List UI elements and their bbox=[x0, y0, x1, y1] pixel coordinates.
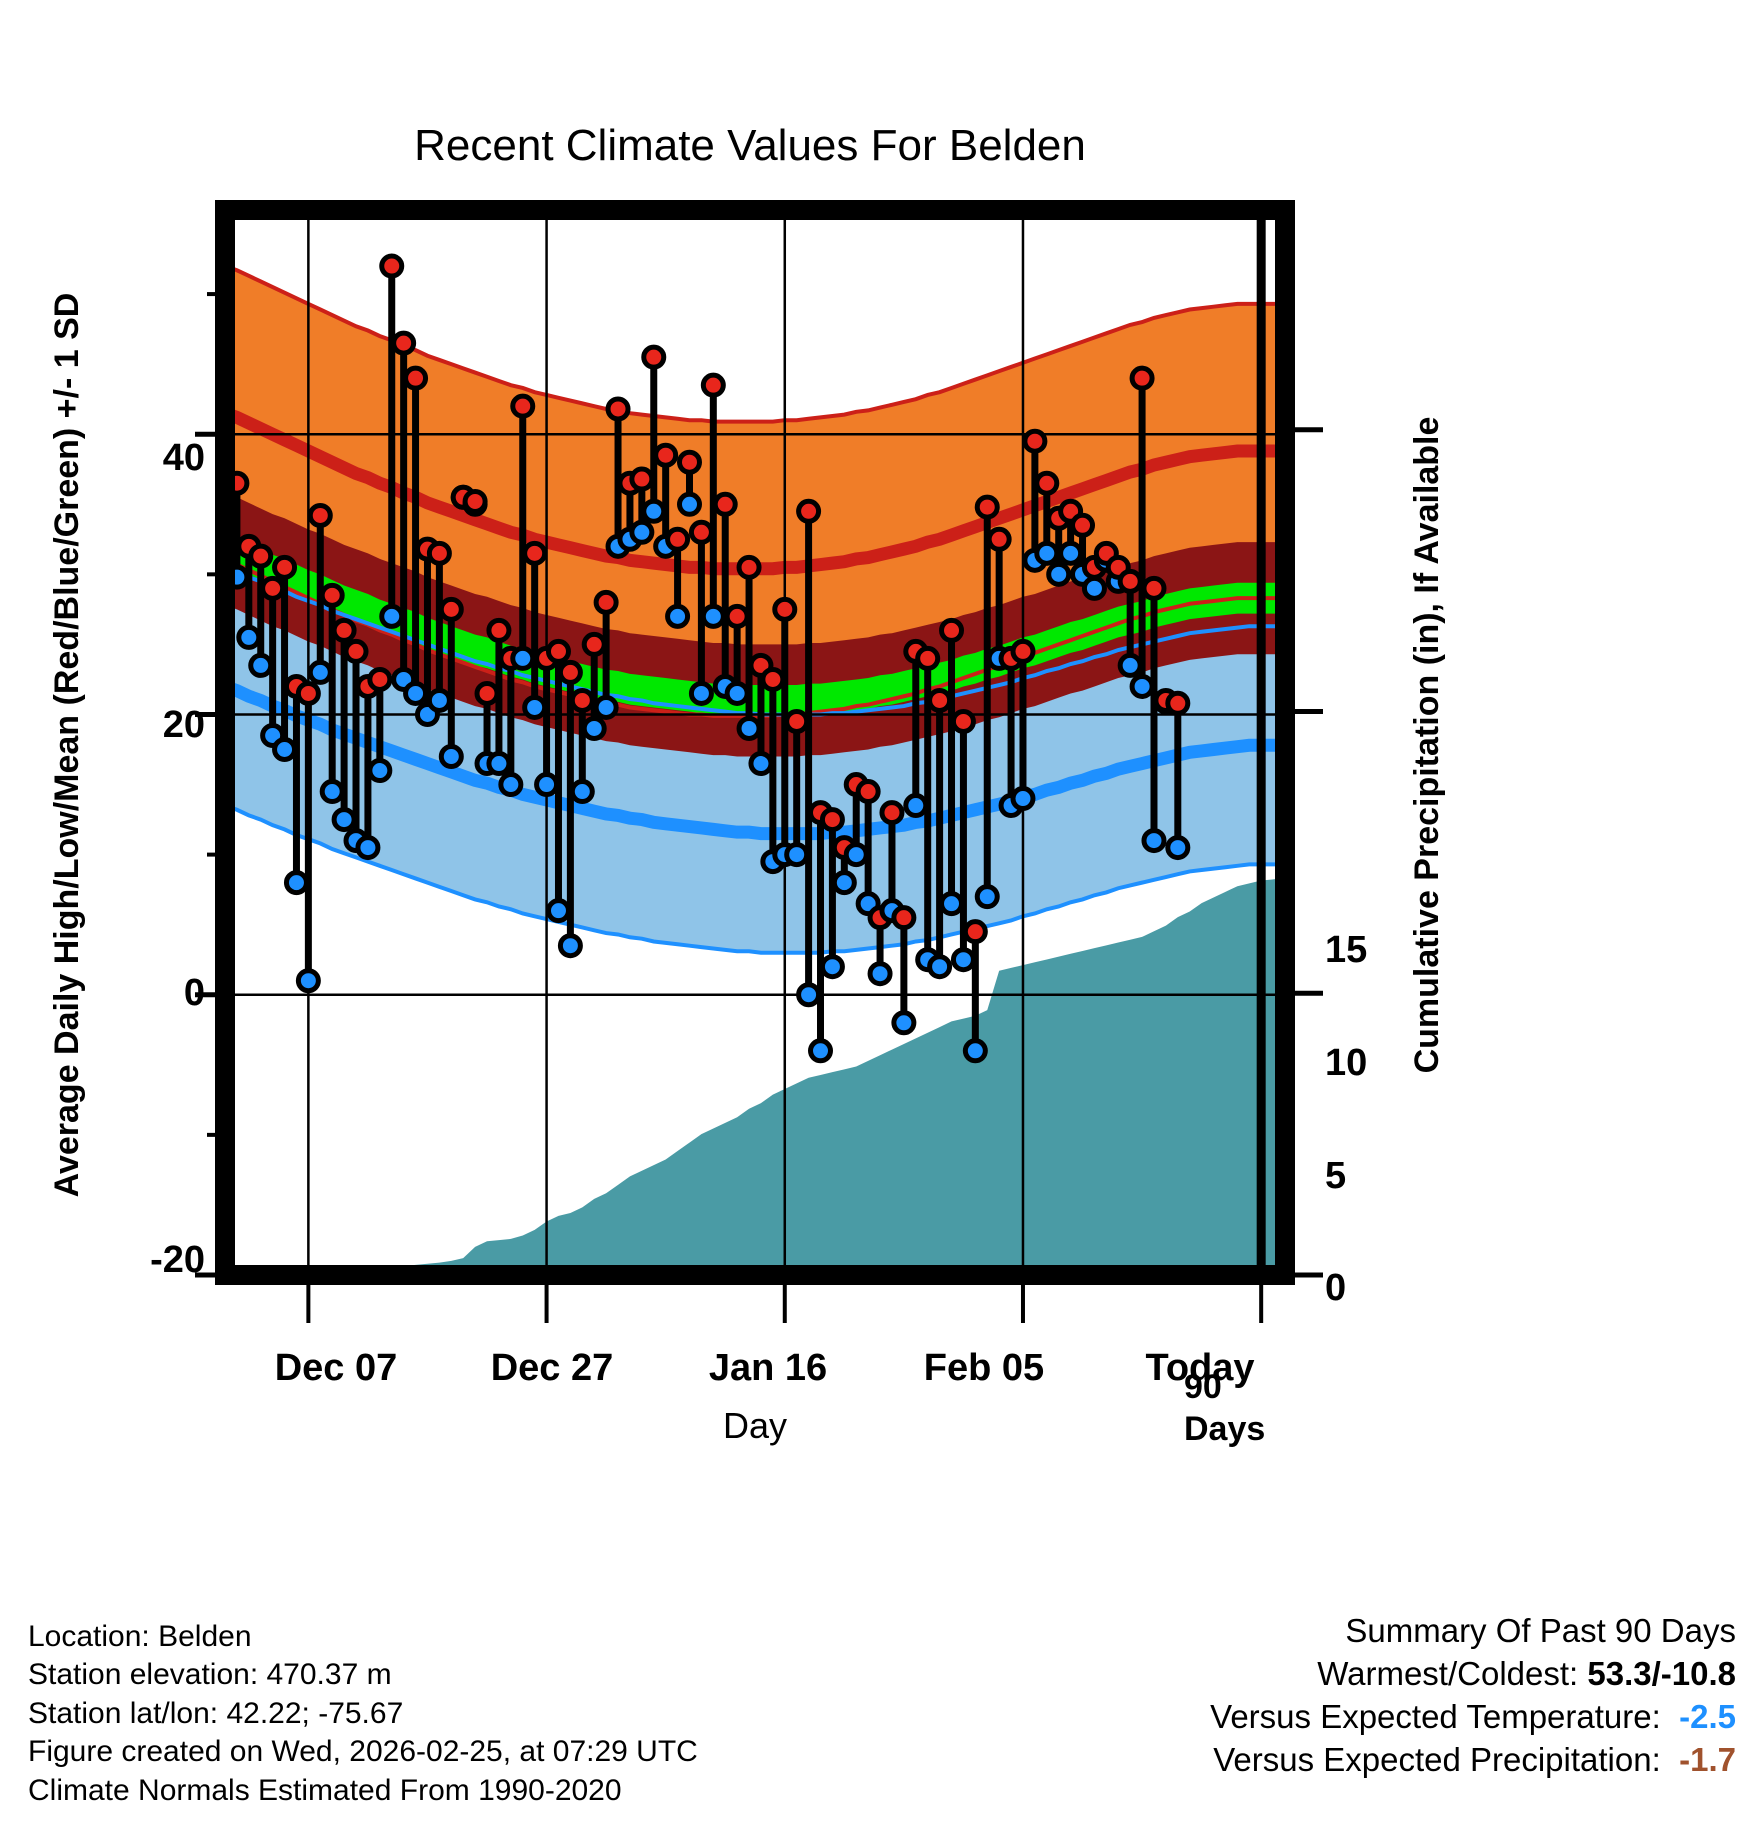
vs-temp-value: -2.5 bbox=[1679, 1698, 1736, 1735]
summary-panel: Summary Of Past 90 Days Warmest/Coldest:… bbox=[1210, 1610, 1736, 1782]
y-tick-left-1: 20 bbox=[163, 704, 205, 746]
footer-elevation: Station elevation: 470.37 m bbox=[28, 1656, 698, 1694]
summary-heading: Summary Of Past 90 Days bbox=[1210, 1610, 1736, 1653]
summary-vs-temperature: Versus Expected Temperature: -2.5 bbox=[1210, 1696, 1736, 1739]
x-tick-2: Jan 16 bbox=[709, 1347, 827, 1389]
footer-created: Figure created on Wed, 2026-02-25, at 07… bbox=[28, 1733, 698, 1771]
x-tick-0: Dec 07 bbox=[275, 1347, 398, 1389]
y-tick-right-2: 5 bbox=[1325, 1155, 1346, 1197]
footer-latlon: Station lat/lon: 42.22; -75.67 bbox=[28, 1695, 698, 1733]
vs-prcp-label: Versus Expected Precipitation: bbox=[1213, 1741, 1661, 1778]
footer-location: Location: Belden bbox=[28, 1618, 698, 1656]
y-tick-right-3: 0 bbox=[1325, 1267, 1346, 1309]
summary-vs-precipitation: Versus Expected Precipitation: -1.7 bbox=[1210, 1739, 1736, 1782]
footer-normals: Climate Normals Estimated From 1990-2020 bbox=[28, 1772, 698, 1810]
footer-left: Location: Belden Station elevation: 470.… bbox=[28, 1618, 698, 1810]
y-axis-left-title: Average Daily High/Low/Mean (Red/Blue/Gr… bbox=[48, 293, 86, 1198]
right-axis-ticks bbox=[1293, 430, 1323, 1275]
x-tick-1: Dec 27 bbox=[491, 1347, 614, 1389]
vs-prcp-value: -1.7 bbox=[1679, 1741, 1736, 1778]
annotation-days: Days bbox=[1184, 1410, 1265, 1448]
summary-warmest-coldest: Warmest/Coldest: 53.3/-10.8 bbox=[1210, 1653, 1736, 1696]
x-axis-title: Day bbox=[723, 1405, 787, 1446]
warmcold-value: 53.3/-10.8 bbox=[1587, 1655, 1736, 1692]
climate-chart-svg: Recent Climate Values For Belden 40 20 0… bbox=[0, 0, 1748, 1828]
y-tick-right-0: 15 bbox=[1325, 929, 1367, 971]
x-axis-ticks bbox=[308, 1285, 1261, 1323]
y-tick-left-0: 40 bbox=[163, 437, 205, 479]
vs-temp-label: Versus Expected Temperature: bbox=[1210, 1698, 1661, 1735]
y-axis-right-title: Cumulative Precipitation (in), If Availa… bbox=[1408, 417, 1446, 1074]
y-tick-right-1: 10 bbox=[1325, 1042, 1367, 1084]
y-tick-left-2: 0 bbox=[184, 972, 205, 1014]
chart-title: Recent Climate Values For Belden bbox=[414, 121, 1086, 170]
warmcold-label: Warmest/Coldest: bbox=[1317, 1655, 1578, 1692]
annotation-90: 90 bbox=[1184, 1368, 1222, 1406]
climate-chart-page: Recent Climate Values For Belden 40 20 0… bbox=[0, 0, 1748, 1828]
x-tick-3: Feb 05 bbox=[924, 1347, 1044, 1389]
y-tick-left-3: -20 bbox=[150, 1239, 205, 1281]
